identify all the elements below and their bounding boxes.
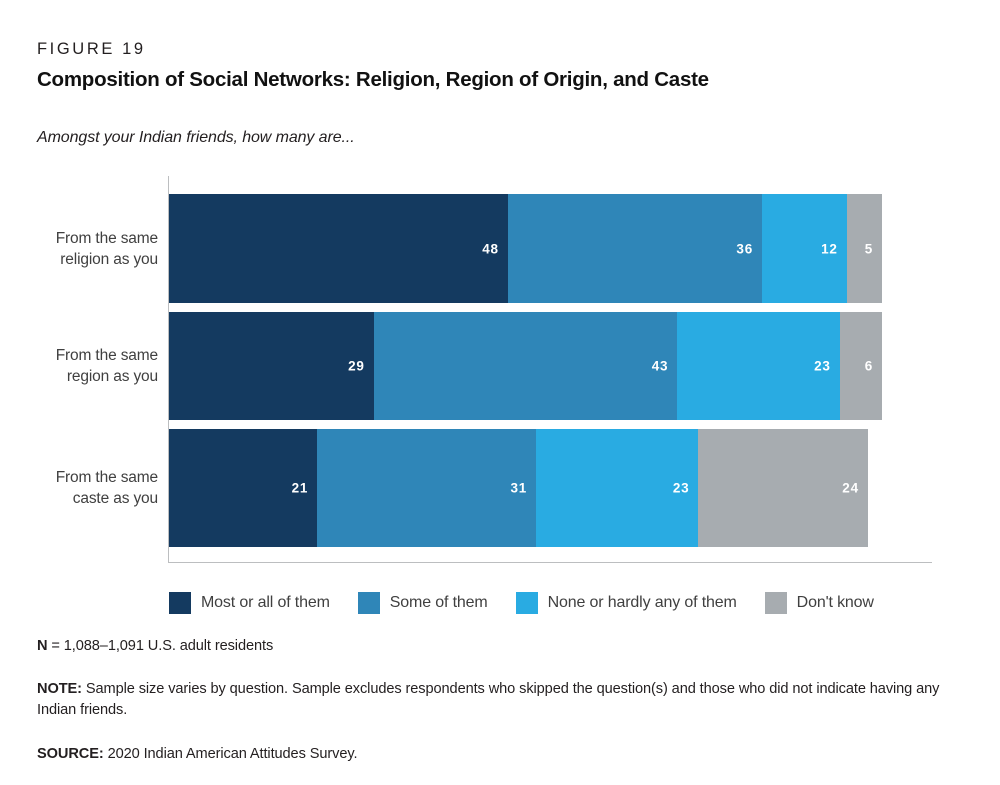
chart-row: From the samereligion as you4836125	[0, 194, 1000, 303]
stacked-bar: 4836125	[169, 194, 882, 303]
bar-segment-value: 43	[652, 359, 669, 374]
sample-size-value: = 1,088–1,091 U.S. adult residents	[47, 638, 273, 654]
source-label: SOURCE:	[37, 746, 104, 762]
source-note: SOURCE: 2020 Indian American Attitudes S…	[37, 744, 937, 765]
sample-size-note: N = 1,088–1,091 U.S. adult residents	[37, 636, 937, 657]
note-label: NOTE:	[37, 681, 82, 697]
bar-segment-value: 23	[673, 481, 690, 496]
bar-segment-value: 6	[865, 359, 873, 374]
bar-segment-value: 12	[821, 241, 838, 256]
bar-segment[interactable]: 23	[677, 312, 839, 420]
legend-item[interactable]: Don't know	[765, 592, 874, 614]
note-body: Sample size varies by question. Sample e…	[37, 681, 939, 718]
row-label: From the samecaste as you	[0, 467, 158, 509]
source-body: 2020 Indian American Attitudes Survey.	[104, 746, 358, 762]
bar-segment[interactable]: 5	[847, 194, 882, 303]
bar-segment-value: 24	[842, 481, 859, 496]
bar-segment-value: 48	[482, 241, 499, 256]
legend-item[interactable]: Most or all of them	[169, 592, 330, 614]
bar-segment[interactable]: 12	[762, 194, 847, 303]
bar-segment[interactable]: 24	[698, 429, 867, 547]
stacked-bar: 2943236	[169, 312, 882, 420]
row-label-line: From the same	[0, 345, 158, 366]
row-label-line: region as you	[0, 366, 158, 387]
row-label: From the samereligion as you	[0, 228, 158, 270]
bar-segment[interactable]: 29	[169, 312, 374, 420]
stacked-bar-chart: From the samereligion as you4836125From …	[0, 0, 1000, 785]
stacked-bar: 21312324	[169, 429, 868, 547]
chart-row: From the sameregion as you2943236	[0, 312, 1000, 420]
bar-segment-value: 21	[292, 481, 309, 496]
bar-segment-value: 36	[736, 241, 753, 256]
methodology-note: NOTE: Sample size varies by question. Sa…	[37, 679, 942, 721]
bar-segment[interactable]: 21	[169, 429, 317, 547]
bar-segment[interactable]: 48	[169, 194, 508, 303]
bar-segment-value: 5	[865, 241, 873, 256]
legend-item[interactable]: None or hardly any of them	[516, 592, 737, 614]
row-label: From the sameregion as you	[0, 345, 158, 387]
chart-row: From the samecaste as you21312324	[0, 429, 1000, 547]
bar-segment-value: 29	[348, 359, 365, 374]
legend-swatch-icon	[358, 592, 380, 614]
bar-segment[interactable]: 31	[317, 429, 536, 547]
row-label-line: religion as you	[0, 249, 158, 270]
legend-label: Most or all of them	[201, 594, 330, 612]
figure-page: FIGURE 19 Composition of Social Networks…	[0, 0, 1000, 785]
legend-swatch-icon	[765, 592, 787, 614]
row-label-line: From the same	[0, 228, 158, 249]
x-axis-line	[168, 562, 932, 563]
bar-segment[interactable]: 43	[374, 312, 678, 420]
legend-label: Don't know	[797, 594, 874, 612]
row-label-line: caste as you	[0, 488, 158, 509]
sample-size-label: N	[37, 638, 47, 654]
bar-segment[interactable]: 36	[508, 194, 762, 303]
legend-swatch-icon	[169, 592, 191, 614]
legend-item[interactable]: Some of them	[358, 592, 488, 614]
bar-segment[interactable]: 23	[536, 429, 698, 547]
bar-segment-value: 23	[814, 359, 831, 374]
row-label-line: From the same	[0, 467, 158, 488]
bar-segment[interactable]: 6	[840, 312, 882, 420]
legend-label: Some of them	[390, 594, 488, 612]
legend-swatch-icon	[516, 592, 538, 614]
bar-segment-value: 31	[510, 481, 527, 496]
legend-label: None or hardly any of them	[548, 594, 737, 612]
chart-legend: Most or all of themSome of themNone or h…	[169, 592, 902, 616]
